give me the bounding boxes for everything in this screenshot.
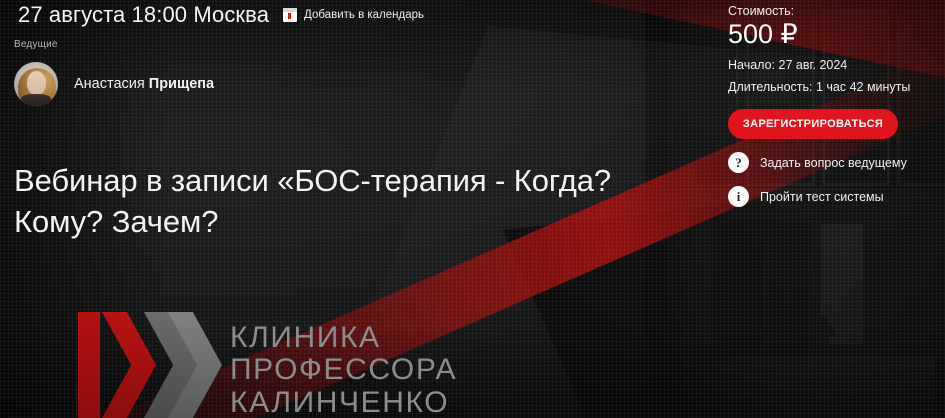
page-title: Вебинар в записи «БОС-терапия - Когда? К… [14,161,674,243]
hosts-section-label: Ведущие [14,39,58,50]
host-last-name: Прищепа [149,76,214,92]
page-content: 27 августа 18:00 Москва Добавить в кален… [0,0,945,418]
host-first-name: Анастасия [74,76,145,92]
host-name: Анастасия Прищепа [74,76,214,92]
logo-chevron-red [102,312,156,418]
info-icon: i [728,186,749,207]
logo-mark-icon [78,308,214,418]
avatar-face [27,71,46,95]
clinic-logo: КЛИНИКА ПРОФЕССОРА КАЛИНЧЕНКО [78,308,457,418]
event-datetime-bar: 27 августа 18:00 Москва Добавить в кален… [18,2,424,28]
system-test-link[interactable]: i Пройти тест системы [728,186,938,207]
event-datetime: 27 августа 18:00 Москва [18,2,269,28]
cost-label: Стоимость: [728,4,938,18]
duration: Длительность: 1 час 42 минуты [728,77,938,99]
logo-bar [78,312,100,418]
ask-question-label: Задать вопрос ведущему [760,156,907,170]
logo-line-3: КАЛИНЧЕНКО [230,387,457,418]
add-to-calendar-label: Добавить в календарь [304,9,424,21]
avatar [14,62,58,106]
start-date: Начало: 27 авг. 2024 [728,55,938,77]
webinar-landing-page: 27 августа 18:00 Москва Добавить в кален… [0,0,945,418]
logo-line-1: КЛИНИКА [230,322,457,354]
avatar-body [21,94,51,106]
register-button[interactable]: ЗАРЕГИСТРИРОВАТЬСЯ [728,109,898,139]
system-test-label: Пройти тест системы [760,190,884,204]
ask-question-link[interactable]: ? Задать вопрос ведущему [728,152,938,173]
price-value: 500 ₽ [728,19,938,49]
logo-wordmark: КЛИНИКА ПРОФЕССОРА КАЛИНЧЕНКО [230,308,457,418]
host-entry[interactable]: Анастасия Прищепа [14,62,214,106]
event-info-panel: Стоимость: 500 ₽ Начало: 27 авг. 2024 Дл… [728,4,938,207]
question-mark-icon: ? [728,152,749,173]
logo-line-2: ПРОФЕССОРА [230,354,457,386]
calendar-icon [283,8,297,22]
add-to-calendar-button[interactable]: Добавить в календарь [283,8,424,22]
